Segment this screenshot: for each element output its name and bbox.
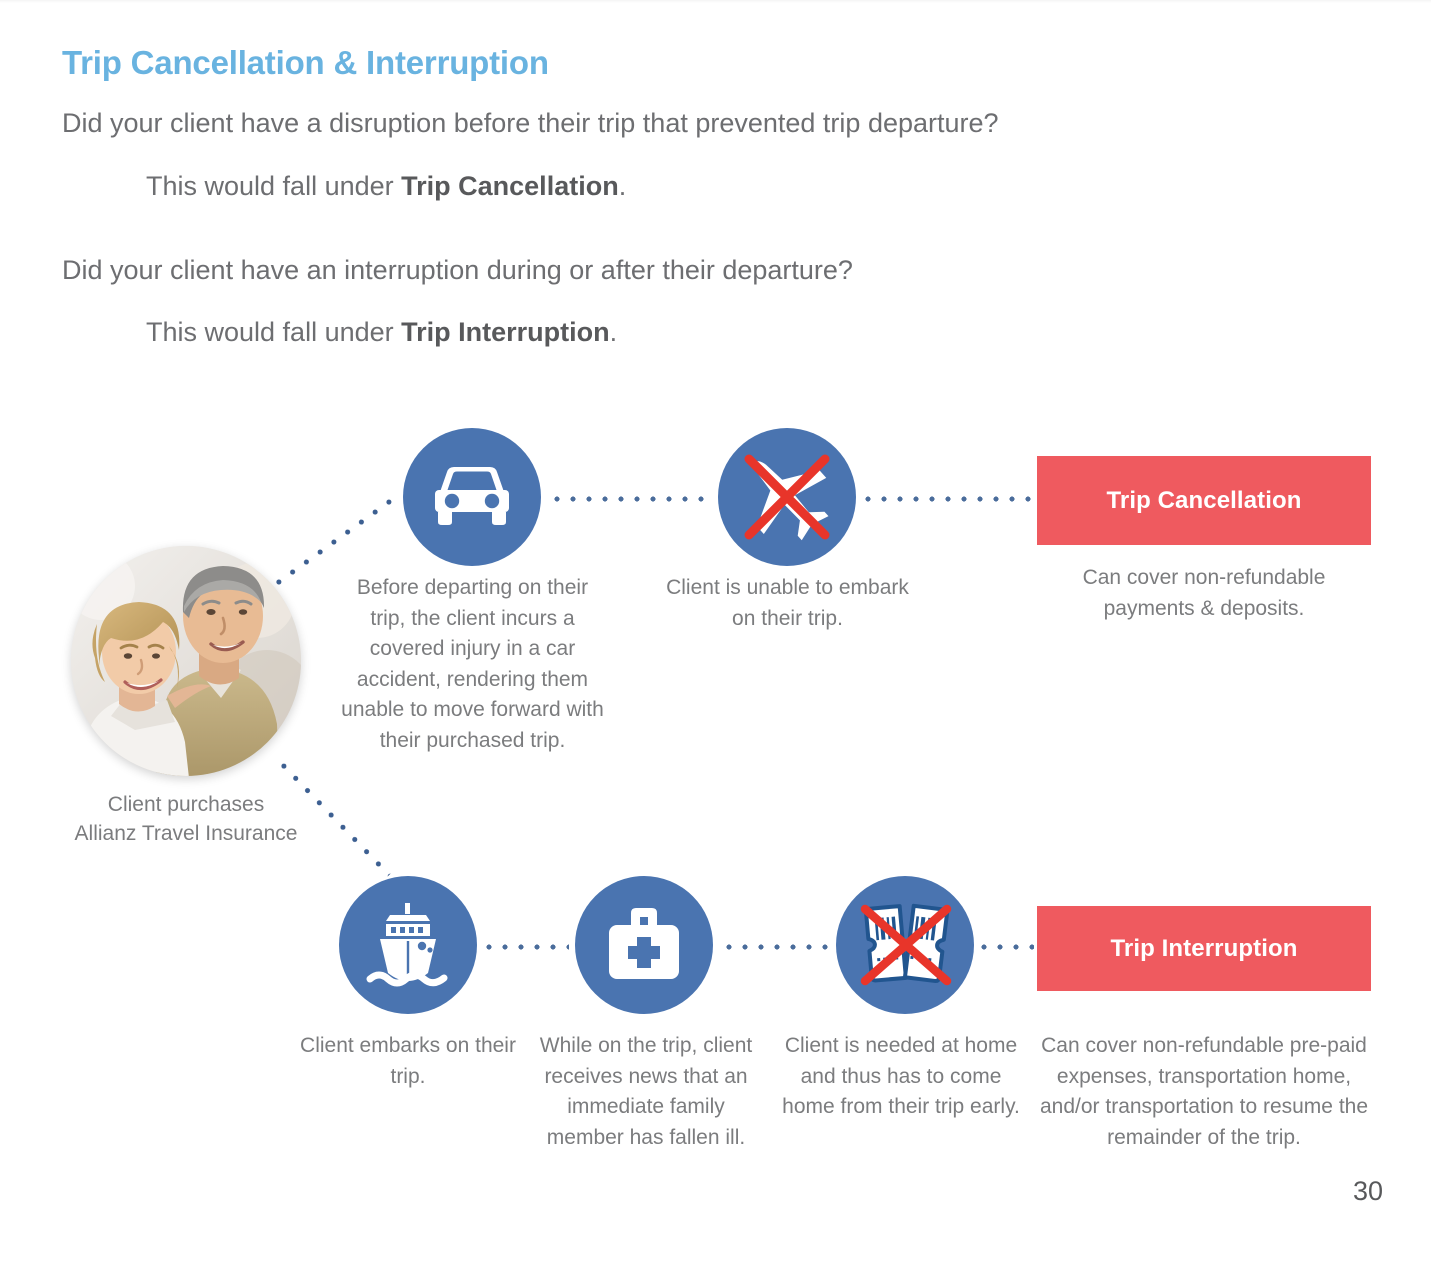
caption-tickets-step: Client is needed at home and thus has to… [778, 1031, 1024, 1123]
first-aid-kit-icon [604, 907, 684, 983]
caption-ship-step: Client embarks on their trip. [295, 1031, 521, 1092]
airplane-cancelled-icon [733, 443, 841, 551]
client-photo-caption-line-2: Allianz Travel Insurance [20, 819, 352, 848]
process-flow-diagram: Client purchases Allianz Travel Insuranc… [0, 0, 1431, 1268]
connector-car-to-plane [549, 496, 710, 502]
client-photo-caption-line-1: Client purchases [20, 790, 352, 819]
connector-plane-to-cancellation-badge [860, 496, 1032, 502]
cruise-ship-icon [362, 901, 454, 989]
tickets-cancelled-icon-circle[interactable] [836, 876, 974, 1014]
page-number: 30 [1353, 1176, 1383, 1207]
cruise-ship-icon-circle[interactable] [339, 876, 477, 1014]
car-icon-circle[interactable] [403, 428, 541, 566]
trip-interruption-badge[interactable]: Trip Interruption [1037, 906, 1371, 991]
tickets-cancelled-icon [851, 893, 959, 997]
car-icon [430, 462, 514, 532]
caption-trip-cancellation-coverage: Can cover non-refundable payments & depo… [1037, 563, 1371, 624]
caption-car-step: Before departing on their trip, the clie… [340, 573, 605, 756]
client-photo [71, 546, 301, 776]
trip-interruption-badge-label: Trip Interruption [1110, 935, 1297, 963]
caption-plane-step: Client is unable to embark on their trip… [655, 573, 920, 634]
trip-cancellation-badge[interactable]: Trip Cancellation [1037, 456, 1371, 545]
connector-tickets-to-interruption-badge [976, 944, 1034, 950]
client-photo-caption: Client purchases Allianz Travel Insuranc… [20, 790, 352, 848]
couple-photo-illustration [71, 546, 301, 776]
connector-kit-to-tickets [721, 944, 833, 950]
airplane-cancelled-icon-circle[interactable] [718, 428, 856, 566]
caption-first-aid-step: While on the trip, client receives news … [533, 1031, 759, 1153]
caption-trip-interruption-coverage: Can cover non-refundable pre-paid expens… [1034, 1031, 1374, 1153]
slide-canvas: Trip Cancellation & Interruption Did you… [0, 0, 1431, 1268]
first-aid-kit-icon-circle[interactable] [575, 876, 713, 1014]
connector-ship-to-kit [481, 944, 569, 950]
trip-cancellation-badge-label: Trip Cancellation [1106, 487, 1301, 515]
